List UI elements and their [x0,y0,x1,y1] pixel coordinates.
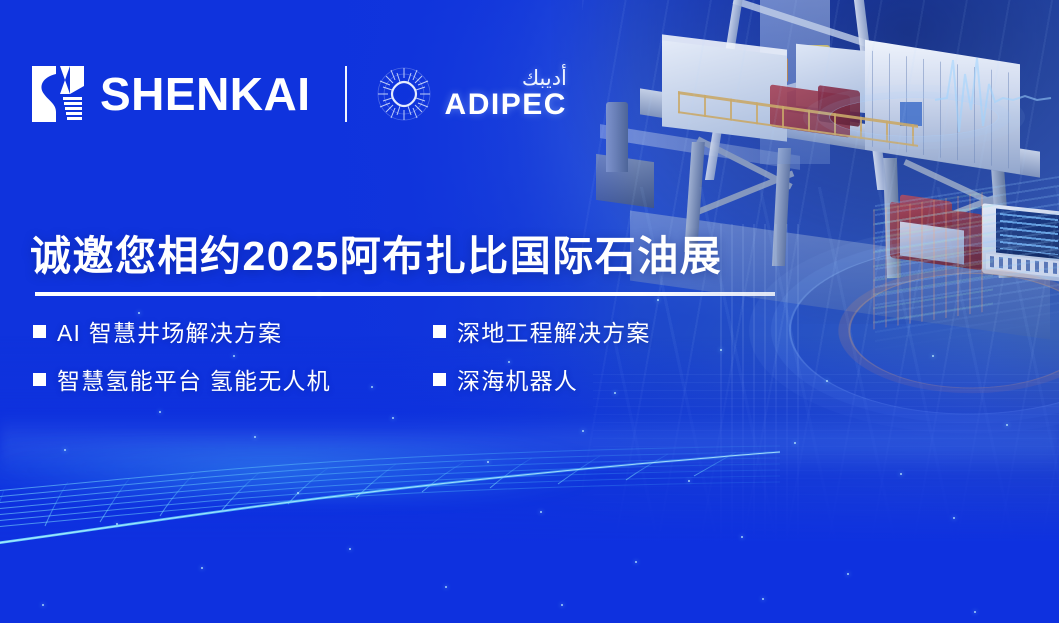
list-item-label: 深地工程解决方案 [457,314,651,348]
page-title: 诚邀您相约2025阿布扎比国际石油展 [30,222,722,282]
bullet-square-icon [433,373,446,386]
list-item-label: AI 智慧井场解决方案 [57,314,282,348]
list-item: 深地工程解决方案 [433,314,651,348]
adipec-latin-text: ADIPEC [445,90,567,120]
adipec-2025-promo-banner: SHENKAI [0,0,1059,623]
list-item-label: 智慧氢能平台 氢能无人机 [57,362,331,396]
feature-bullet-list: AI 智慧井场解决方案 深地工程解决方案 智慧氢能平台 氢能无人机 深海机器人 [33,314,651,396]
adipec-logo: أديبك ADIPEC [375,65,567,123]
bullet-square-icon [33,373,46,386]
shenkai-wordmark: SHENKAI [100,71,311,117]
headline-divider-rule [35,292,775,296]
bullet-square-icon [33,325,46,338]
adipec-burst-icon [375,65,433,123]
list-item: 深海机器人 [433,362,651,396]
shenkai-logo-icon [30,64,86,124]
list-item: 智慧氢能平台 氢能无人机 [33,362,433,396]
adipec-arabic-text: أديبك [522,68,567,89]
list-item: AI 智慧井场解决方案 [33,314,433,348]
logo-lockup: SHENKAI [30,64,567,124]
bullet-square-icon [433,325,446,338]
list-item-label: 深海机器人 [457,362,578,396]
logo-divider [345,66,347,122]
